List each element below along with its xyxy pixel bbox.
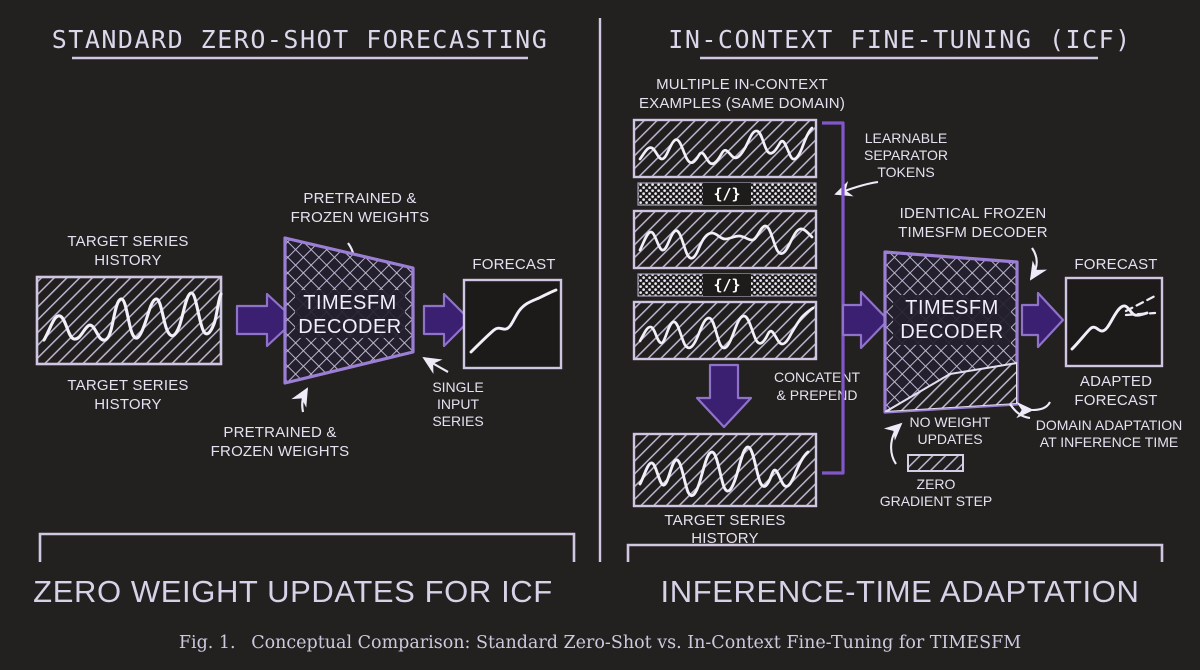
right-decoder-note-below-line1: NO WEIGHT	[910, 414, 991, 430]
in-context-example-box-3	[634, 302, 816, 359]
left-decoder-note-below-line2: FROZEN WEIGHTS	[211, 443, 350, 460]
left-input-label-above-line2: HISTORY	[94, 252, 162, 269]
examples-label-line2: EXAMPLES (SAME DOMAIN)	[639, 95, 845, 112]
right-target-label-line1: TARGET SERIES	[664, 512, 785, 529]
separator-token-2-label: {/}	[713, 276, 740, 294]
right-decoder-title-line2: DECODER	[900, 321, 1004, 343]
figure-caption: Fig. 1. Conceptual Comparison: Standard …	[179, 633, 1021, 653]
separator-note-line3: TOKENS	[877, 164, 934, 180]
right-timesfm-decoder: TIMESFM DECODER	[885, 252, 1017, 412]
figure-canvas: STANDARD ZERO-SHOT FORECASTING IN-CONTEX…	[0, 0, 1200, 670]
left-input-label-below-line1: TARGET SERIES	[67, 377, 188, 394]
domain-adaptation-note-line2: AT INFERENCE TIME	[1040, 434, 1178, 450]
right-decoder-title-line1: TIMESFM	[905, 297, 999, 319]
adapted-forecast-label-line1: ADAPTED	[1080, 373, 1152, 390]
left-decoder-note-above-line2: FROZEN WEIGHTS	[291, 209, 430, 226]
adapted-forecast-label-line2: FORECAST	[1074, 392, 1157, 409]
right-panel-header: IN-CONTEXT FINE-TUNING (ICF)	[668, 25, 1131, 54]
left-decoder-title-line1: TIMESFM	[303, 292, 397, 314]
left-decoder-note-right-line1: SINGLE	[432, 379, 483, 395]
zero-gradient-label-line1: ZERO	[917, 476, 956, 492]
in-context-example-box-1	[634, 120, 816, 177]
separator-token-2: {/}	[638, 274, 816, 296]
right-decoder-note-below-line2: UPDATES	[917, 431, 982, 447]
left-decoder-note-above-line1: PRETRAINED &	[303, 190, 416, 207]
right-decoder-note-above-line2: TIMESFM DECODER	[898, 224, 1048, 241]
domain-adaptation-note-line1: DOMAIN ADAPTATION	[1036, 417, 1183, 433]
right-decoder-note-above-line1: IDENTICAL FROZEN	[900, 205, 1047, 222]
left-decoder-note-below-line1: PRETRAINED &	[223, 424, 336, 441]
figure-caption-number: Fig. 1.	[179, 633, 236, 653]
concat-note-line2: & PREPEND	[777, 387, 858, 403]
left-decoder-title-line2: DECODER	[298, 316, 402, 338]
left-input-label-above-line1: TARGET SERIES	[67, 233, 188, 250]
left-decoder-note-right-line3: SERIES	[432, 413, 483, 429]
left-forecast-label: FORECAST	[472, 256, 555, 273]
left-panel-footer: ZERO WEIGHT UPDATES FOR ICF	[33, 574, 553, 609]
conceptual-comparison-diagram: STANDARD ZERO-SHOT FORECASTING IN-CONTEX…	[0, 0, 1200, 670]
figure-caption-text: Conceptual Comparison: Standard Zero-Sho…	[251, 633, 1021, 653]
right-panel-footer: INFERENCE-TIME ADAPTATION	[661, 574, 1140, 609]
separator-token-1-label: {/}	[713, 185, 740, 203]
examples-label-line1: MULTIPLE IN-CONTEXT	[656, 76, 828, 93]
left-input-label-below-line2: HISTORY	[94, 396, 162, 413]
separator-note-line2: SEPARATOR	[864, 147, 948, 163]
right-target-series-history-box	[634, 434, 816, 506]
separator-token-1: {/}	[638, 183, 816, 205]
left-decoder-note-right-line2: INPUT	[437, 396, 479, 412]
adapted-forecast-box	[1066, 278, 1162, 366]
in-context-example-box-2	[634, 211, 816, 268]
left-panel-header: STANDARD ZERO-SHOT FORECASTING	[52, 25, 549, 54]
zero-gradient-label-line2: GRADIENT STEP	[880, 493, 993, 509]
target-series-history-box	[37, 277, 221, 364]
separator-note-line1: LEARNABLE	[865, 130, 947, 146]
concat-note-line1: CONCATENT	[774, 369, 861, 385]
forecast-box	[464, 280, 561, 368]
right-forecast-label: FORECAST	[1074, 256, 1157, 273]
zero-gradient-step-chip	[908, 455, 963, 471]
